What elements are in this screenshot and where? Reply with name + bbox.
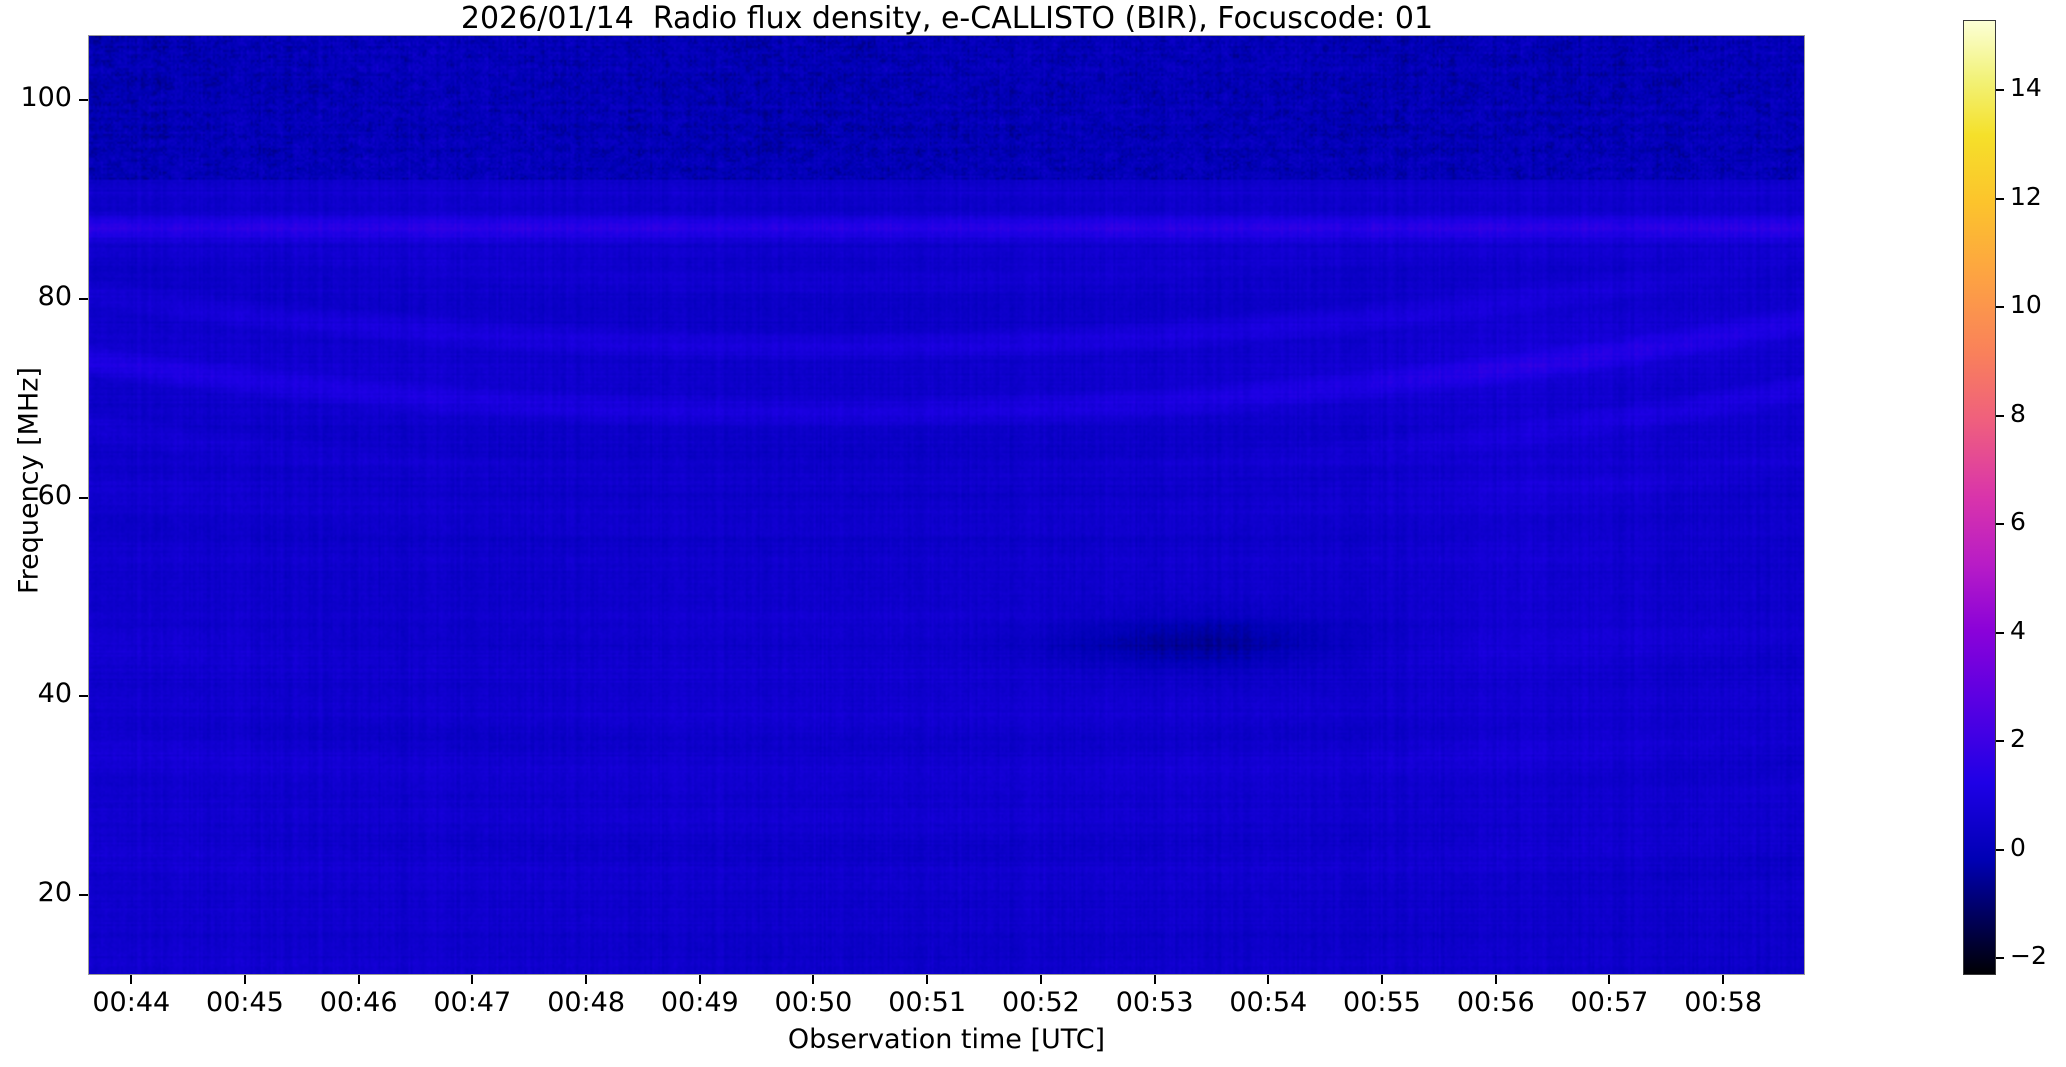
x-tick-mark bbox=[585, 975, 587, 984]
x-tick-mark bbox=[130, 975, 132, 984]
x-tick-mark bbox=[471, 975, 473, 984]
colorbar-tick-label: 0 bbox=[2010, 833, 2026, 862]
colorbar-tick-mark bbox=[1996, 415, 2004, 417]
colorbar-tick-label: −2 bbox=[2010, 941, 2047, 970]
colorbar-tick-label: 10 bbox=[2010, 290, 2042, 319]
x-axis-label: Observation time [UTC] bbox=[88, 1024, 1805, 1055]
colorbar-tick-mark bbox=[1996, 198, 2004, 200]
x-tick-mark bbox=[1381, 975, 1383, 984]
y-tick-label: 80 bbox=[38, 281, 72, 312]
colorbar-tick-label: 2 bbox=[2010, 724, 2026, 753]
x-tick-label: 00:58 bbox=[1643, 987, 1803, 1018]
colorbar-tick-label: 14 bbox=[2010, 73, 2042, 102]
y-tick-label: 20 bbox=[38, 877, 72, 908]
y-tick-label: 60 bbox=[38, 480, 72, 511]
colorbar-tick-label: 4 bbox=[2010, 616, 2026, 645]
colorbar-tick-label: 8 bbox=[2010, 399, 2026, 428]
y-tick-mark bbox=[79, 894, 88, 896]
x-tick-mark bbox=[1040, 975, 1042, 984]
page-title: 2026/01/14 Radio flux density, e-CALLIST… bbox=[88, 2, 1806, 36]
x-tick-mark bbox=[358, 975, 360, 984]
y-tick-label: 100 bbox=[20, 82, 72, 113]
colorbar-tick-mark bbox=[1996, 957, 2004, 959]
x-tick-mark bbox=[1154, 975, 1156, 984]
y-tick-label: 40 bbox=[38, 678, 72, 709]
colorbar[interactable] bbox=[1963, 20, 1996, 975]
y-tick-mark bbox=[79, 497, 88, 499]
colorbar-tick-mark bbox=[1996, 632, 2004, 634]
spectrogram-axes[interactable] bbox=[88, 35, 1805, 975]
colorbar-tick-label: 12 bbox=[2010, 182, 2042, 211]
y-tick-mark bbox=[79, 695, 88, 697]
x-tick-mark bbox=[1608, 975, 1610, 984]
colorbar-tick-mark bbox=[1996, 89, 2004, 91]
colorbar-tick-mark bbox=[1996, 523, 2004, 525]
x-tick-mark bbox=[699, 975, 701, 984]
x-tick-mark bbox=[244, 975, 246, 984]
figure-canvas: 2026/01/14 Radio flux density, e-CALLIST… bbox=[0, 0, 2066, 1067]
x-tick-mark bbox=[812, 975, 814, 984]
colorbar-tick-label: 6 bbox=[2010, 507, 2026, 536]
spectrogram-image bbox=[89, 36, 1804, 974]
y-tick-mark bbox=[79, 99, 88, 101]
y-tick-mark bbox=[79, 298, 88, 300]
x-tick-mark bbox=[1495, 975, 1497, 984]
colorbar-tick-mark bbox=[1996, 306, 2004, 308]
x-tick-mark bbox=[1267, 975, 1269, 984]
x-tick-mark bbox=[1722, 975, 1724, 984]
colorbar-tick-mark bbox=[1996, 849, 2004, 851]
colorbar-tick-mark bbox=[1996, 740, 2004, 742]
x-tick-mark bbox=[926, 975, 928, 984]
